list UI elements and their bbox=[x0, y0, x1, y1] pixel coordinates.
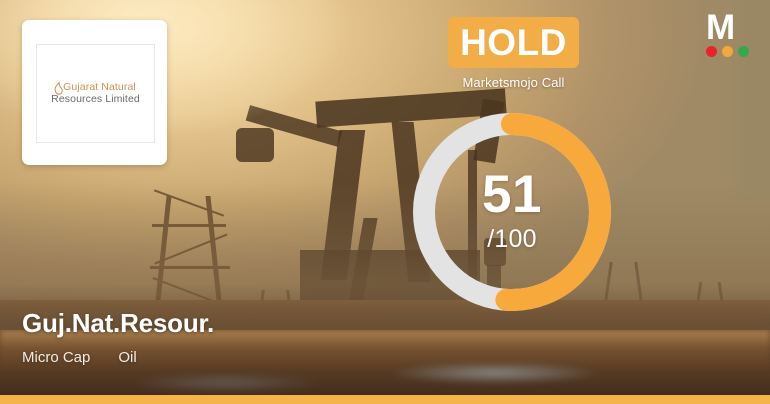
background-snow-patch-2 bbox=[130, 374, 320, 392]
stock-info-block: Guj.Nat.Resour. Micro Cap Oil bbox=[22, 309, 214, 366]
orange-dot bbox=[722, 46, 733, 57]
flame-icon bbox=[54, 82, 63, 95]
marketsmojo-logo-dots bbox=[706, 46, 760, 57]
background-snow-patch bbox=[390, 362, 600, 384]
call-source-label: Marketsmojo Call bbox=[448, 75, 579, 90]
stock-score-card: Gujarat Natural Resources Limited HOLD M… bbox=[0, 0, 770, 404]
red-dot bbox=[706, 46, 717, 57]
bottom-accent-bar bbox=[0, 395, 770, 404]
call-badge-hold[interactable]: HOLD bbox=[448, 17, 579, 68]
marketsmojo-logo-letter: M bbox=[706, 14, 760, 43]
company-logo-card: Gujarat Natural Resources Limited bbox=[22, 20, 167, 165]
stock-tags: Micro Cap Oil bbox=[22, 349, 214, 366]
score-gauge: 51 /100 bbox=[412, 112, 612, 312]
stock-market-cap: Micro Cap bbox=[22, 349, 90, 366]
stock-name: Guj.Nat.Resour. bbox=[22, 309, 214, 338]
stock-sector: Oil bbox=[118, 349, 136, 366]
company-logo-line2: Resources Limited bbox=[47, 94, 145, 105]
marketsmojo-call-block: HOLD Marketsmojo Call bbox=[448, 17, 579, 90]
company-logo: Gujarat Natural Resources Limited bbox=[47, 82, 145, 105]
score-gauge-svg bbox=[412, 112, 612, 312]
green-dot bbox=[738, 46, 749, 57]
marketsmojo-logo[interactable]: M bbox=[706, 14, 760, 57]
company-logo-frame: Gujarat Natural Resources Limited bbox=[36, 44, 155, 143]
